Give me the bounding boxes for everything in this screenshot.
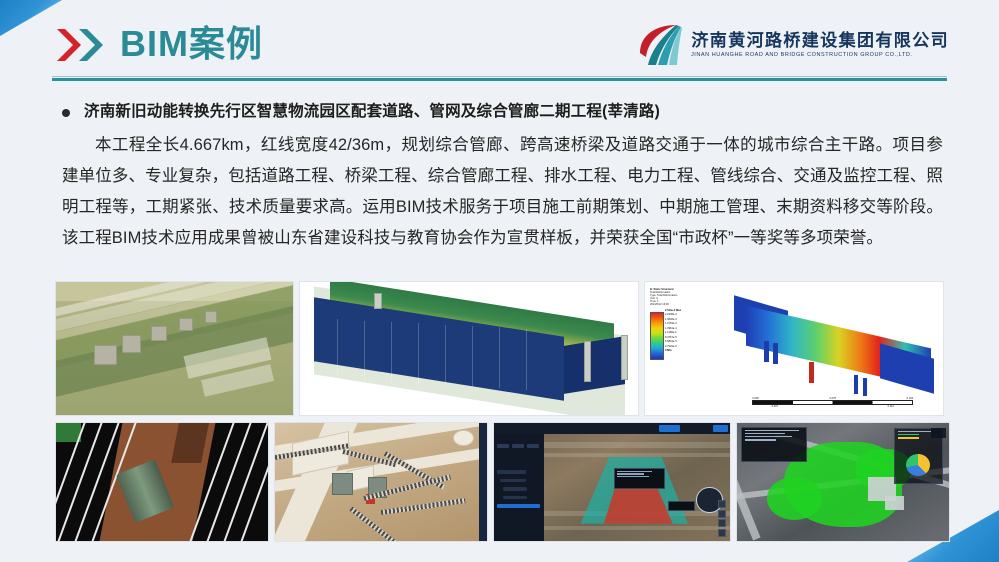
underground-pipe-network-image	[275, 423, 487, 541]
thumb-aerial-greening-analysis[interactable]	[736, 422, 950, 542]
gis-map-label	[668, 501, 694, 511]
gis-map-viewport[interactable]	[544, 434, 730, 541]
project-title: 济南新旧动能转换先行区智慧物流园区配套道路、管网及综合管廊二期工程(莘清路)	[84, 100, 660, 124]
fea-pier-5	[863, 378, 868, 397]
aerial-corner-button[interactable]	[931, 428, 946, 439]
asphalt-roadway-model-image	[56, 423, 268, 541]
title-divider	[52, 78, 947, 81]
thumb-gis-earthwork-platform[interactable]	[493, 422, 731, 542]
aerial-info-panel	[741, 427, 807, 462]
road-corridor-render-image	[56, 282, 293, 415]
fea-legend-line-5: 2021/6/12 13:03	[650, 303, 694, 306]
fea-color-bar	[650, 312, 664, 360]
brand-name-en: JINAN HUANGHE ROAD AND BRIDGE CONSTRUCTI…	[691, 51, 954, 60]
page-title: BIM案例	[120, 20, 263, 68]
fea-min-label: 0 Min	[665, 349, 694, 354]
bullet-heading-row: 济南新旧动能转换先行区智慧物流园区配套道路、管网及综合管廊二期工程(莘清路)	[0, 100, 999, 124]
thumb-asphalt-roadway-model[interactable]	[55, 422, 269, 542]
gis-earthwork-platform-image	[494, 423, 730, 541]
fea-pier-4	[854, 375, 859, 394]
aerial-pie-chart	[906, 454, 930, 477]
gis-measurement-tooltip	[614, 468, 664, 489]
thumb-road-corridor-render[interactable]	[55, 281, 294, 416]
utility-tunnel-box-model-image	[300, 282, 638, 415]
thumb-utility-tunnel-box-model[interactable]	[299, 281, 639, 416]
gis-toolbar-button-2[interactable]	[713, 425, 727, 432]
gallery-row-2	[0, 422, 999, 542]
fea-total-deformation-image: B: Static Structural Total Deformation T…	[645, 282, 943, 415]
bullet-dot-icon	[62, 109, 70, 117]
brand-name-cn: 济南黄河路桥建设集团有限公司	[691, 30, 949, 51]
slide-header: BIM案例 济南黄河路桥建设集团有限公司 JINAN HUANGHE ROAD …	[0, 0, 999, 88]
chevron-teal-icon	[78, 28, 104, 62]
fea-scale-ticks-bottom: 0.037 0.112	[752, 405, 913, 408]
fea-pier-2	[773, 343, 778, 364]
gallery-row-1: B: Static Structural Total Deformation T…	[0, 281, 999, 416]
thumb-underground-pipe-network[interactable]	[274, 422, 488, 542]
fea-legend-values: 2.513e-4 Max 2.2338e-4 1.9546e-4 1.6753e…	[665, 309, 694, 354]
brand-text: 济南黄河路桥建设集团有限公司 JINAN HUANGHE ROAD AND BR…	[691, 30, 949, 60]
title-divider-highlight	[52, 76, 947, 77]
thumb-fea-total-deformation[interactable]: B: Static Structural Total Deformation T…	[644, 281, 944, 416]
fea-legend: B: Static Structural Total Deformation T…	[650, 288, 694, 360]
gis-toolbar-button-1[interactable]	[659, 425, 680, 432]
gis-sidebar[interactable]	[494, 434, 545, 541]
aerial-greening-analysis-image	[737, 423, 949, 541]
project-description: 本工程全长4.667km，红线宽度42/36m，规划综合管廊、跨高速桥梁及道路交…	[0, 130, 999, 254]
gis-zoom-controls[interactable]	[718, 500, 726, 537]
brand-mark-icon	[636, 23, 682, 67]
slide-root: BIM案例 济南黄河路桥建设集团有限公司 JINAN HUANGHE ROAD …	[0, 0, 999, 562]
company-logo: 济南黄河路桥建设集团有限公司 JINAN HUANGHE ROAD AND BR…	[636, 22, 949, 68]
image-gallery: B: Static Structural Total Deformation T…	[0, 281, 999, 542]
chevron-group	[56, 28, 118, 62]
fea-pier-1	[764, 341, 769, 362]
slide-content: 济南新旧动能转换先行区智慧物流园区配套道路、管网及综合管廊二期工程(莘清路) 本…	[0, 100, 999, 254]
fea-pier-3	[809, 362, 814, 383]
fea-scale-bar: 0.000 0.075 0.150 0.037 0.112	[752, 397, 913, 408]
